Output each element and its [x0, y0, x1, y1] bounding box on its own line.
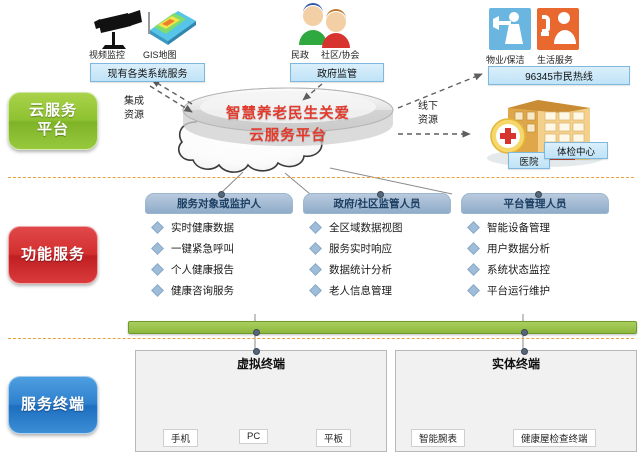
- stage-pill-service-terminal[interactable]: 服务终端: [8, 376, 98, 434]
- function-list-item[interactable]: 数据统计分析: [311, 262, 451, 277]
- cloud-platform-node: 智慧养老民生关爱 云服务平台: [168, 82, 408, 178]
- function-item-list: 智能设备管理 用户数据分析 系统状态监控 平台运行维护: [469, 220, 609, 298]
- function-item-label: 全区域数据视图: [329, 220, 403, 235]
- function-list-item[interactable]: 实时健康数据: [153, 220, 293, 235]
- function-list-item[interactable]: 健康咨询服务: [153, 283, 293, 298]
- icon-label-civil-affairs: 民政: [291, 48, 309, 61]
- stage-pill-cloud-platform[interactable]: 云服务 平台: [8, 92, 98, 150]
- icon-label-property-cleaning: 物业/保洁: [486, 53, 525, 66]
- box-citizen-hotline[interactable]: 96345市民热线: [488, 66, 630, 85]
- function-item-list: 全区域数据视图 服务实时响应 数据统计分析 老人信息管理: [311, 220, 451, 298]
- function-list-item[interactable]: 用户数据分析: [469, 241, 609, 256]
- terminal-label-phone[interactable]: 手机: [163, 429, 198, 447]
- connector-label-integrate: 集成 资源: [124, 95, 144, 122]
- terminal-panel-title: 实体终端: [396, 355, 636, 372]
- function-item-label: 服务实时响应: [329, 241, 392, 256]
- terminal-label-smartwatch[interactable]: 智能腕表: [411, 429, 465, 447]
- function-item-label: 个人健康报告: [171, 262, 234, 277]
- function-list-item[interactable]: 老人信息管理: [311, 283, 451, 298]
- cloud-title-line1: 智慧养老民生关爱: [168, 104, 408, 126]
- connector-dot: [521, 348, 528, 355]
- icon-label-gis-map: GIS地图: [143, 48, 177, 61]
- stage-pill-function-label: 功能服务: [21, 246, 85, 265]
- bullet-diamond-icon: [151, 242, 164, 255]
- function-item-label: 一键紧急呼叫: [171, 241, 234, 256]
- bullet-diamond-icon: [151, 284, 164, 297]
- bar-to-terminal-links: [255, 332, 523, 351]
- function-item-label: 系统状态监控: [487, 262, 550, 277]
- terminal-label-health-kiosk[interactable]: 健康屋检查终端: [513, 429, 596, 447]
- bullet-diamond-icon: [309, 221, 322, 234]
- label-checkup-center[interactable]: 体检中心: [544, 142, 608, 159]
- divider-cloud-function: [8, 177, 634, 178]
- function-list-item[interactable]: 平台运行维护: [469, 283, 609, 298]
- box-existing-systems[interactable]: 现有各类系统服务: [90, 63, 205, 82]
- terminal-label-pc[interactable]: PC: [239, 429, 268, 444]
- people-icon: [299, 3, 350, 48]
- cloud-title-line2: 云服务平台: [168, 126, 408, 148]
- connector-label-integrate-line1: 集成: [124, 95, 144, 109]
- function-item-label: 用户数据分析: [487, 241, 550, 256]
- connector-label-offline: 线下 资源: [418, 100, 438, 127]
- function-list-item[interactable]: 一键紧急呼叫: [153, 241, 293, 256]
- integration-bus-bar: [128, 321, 637, 334]
- connector-dot: [218, 191, 225, 198]
- gis-map-icon: [148, 11, 196, 45]
- connector-dot: [253, 348, 260, 355]
- function-list-item[interactable]: 个人健康报告: [153, 262, 293, 277]
- connector-label-offline-line2: 资源: [418, 114, 438, 128]
- cloud-title: 智慧养老民生关爱 云服务平台: [168, 104, 408, 148]
- icon-label-video-monitoring: 视频监控: [89, 48, 125, 61]
- function-item-label: 数据统计分析: [329, 262, 392, 277]
- function-panel-platform-admin: 平台管理人员 智能设备管理 用户数据分析 系统状态监控 平台运行维护: [461, 193, 609, 304]
- function-item-label: 健康咨询服务: [171, 283, 234, 298]
- function-item-label: 老人信息管理: [329, 283, 392, 298]
- video-camera-icon: [94, 10, 142, 49]
- function-panel-government-supervisor: 政府/社区监管人员 全区域数据视图 服务实时响应 数据统计分析 老人信息管理: [303, 193, 451, 304]
- icon-label-community-association: 社区/协会: [321, 48, 360, 61]
- bullet-diamond-icon: [309, 284, 322, 297]
- stage-pill-terminal-label: 服务终端: [21, 396, 85, 415]
- stage-pill-cloud-label-1: 云服务: [29, 102, 77, 121]
- function-item-label: 平台运行维护: [487, 283, 550, 298]
- life-service-icon: [537, 8, 579, 50]
- function-list-item[interactable]: 服务实时响应: [311, 241, 451, 256]
- connector-dot: [253, 329, 260, 336]
- connector-dot: [377, 191, 384, 198]
- box-government-supervision[interactable]: 政府监管: [290, 63, 384, 82]
- diagram-canvas: 云服务 平台 功能服务 服务终端 智慧养老民生关爱 云服务平台 集成 资源 线下…: [0, 0, 640, 454]
- function-panel-service-object: 服务对象或监护人 实时健康数据 一键紧急呼叫 个人健康报告 健康咨询服务: [145, 193, 293, 304]
- connector-dot: [535, 191, 542, 198]
- function-item-label: 实时健康数据: [171, 220, 234, 235]
- bullet-diamond-icon: [467, 284, 480, 297]
- terminal-label-tablet[interactable]: 平板: [316, 429, 351, 447]
- stage-pill-function-service[interactable]: 功能服务: [8, 226, 98, 284]
- terminal-panel-title: 虚拟终端: [136, 355, 386, 372]
- bullet-diamond-icon: [467, 263, 480, 276]
- stage-pill-cloud-label-2: 平台: [29, 121, 77, 140]
- bullet-diamond-icon: [151, 263, 164, 276]
- bullet-diamond-icon: [467, 221, 480, 234]
- divider-function-terminal: [8, 338, 634, 339]
- icon-label-life-service: 生活服务: [537, 53, 573, 66]
- housekeeping-icon: [489, 8, 531, 50]
- function-item-label: 智能设备管理: [487, 220, 550, 235]
- function-list-item[interactable]: 系统状态监控: [469, 262, 609, 277]
- bullet-diamond-icon: [467, 242, 480, 255]
- bullet-diamond-icon: [151, 221, 164, 234]
- function-item-list: 实时健康数据 一键紧急呼叫 个人健康报告 健康咨询服务: [153, 220, 293, 298]
- function-list-item[interactable]: 智能设备管理: [469, 220, 609, 235]
- connector-dot: [521, 329, 528, 336]
- connector-label-integrate-line2: 资源: [124, 109, 144, 123]
- function-list-item[interactable]: 全区域数据视图: [311, 220, 451, 235]
- connector-label-offline-line1: 线下: [418, 100, 438, 114]
- bullet-diamond-icon: [309, 263, 322, 276]
- bullet-diamond-icon: [309, 242, 322, 255]
